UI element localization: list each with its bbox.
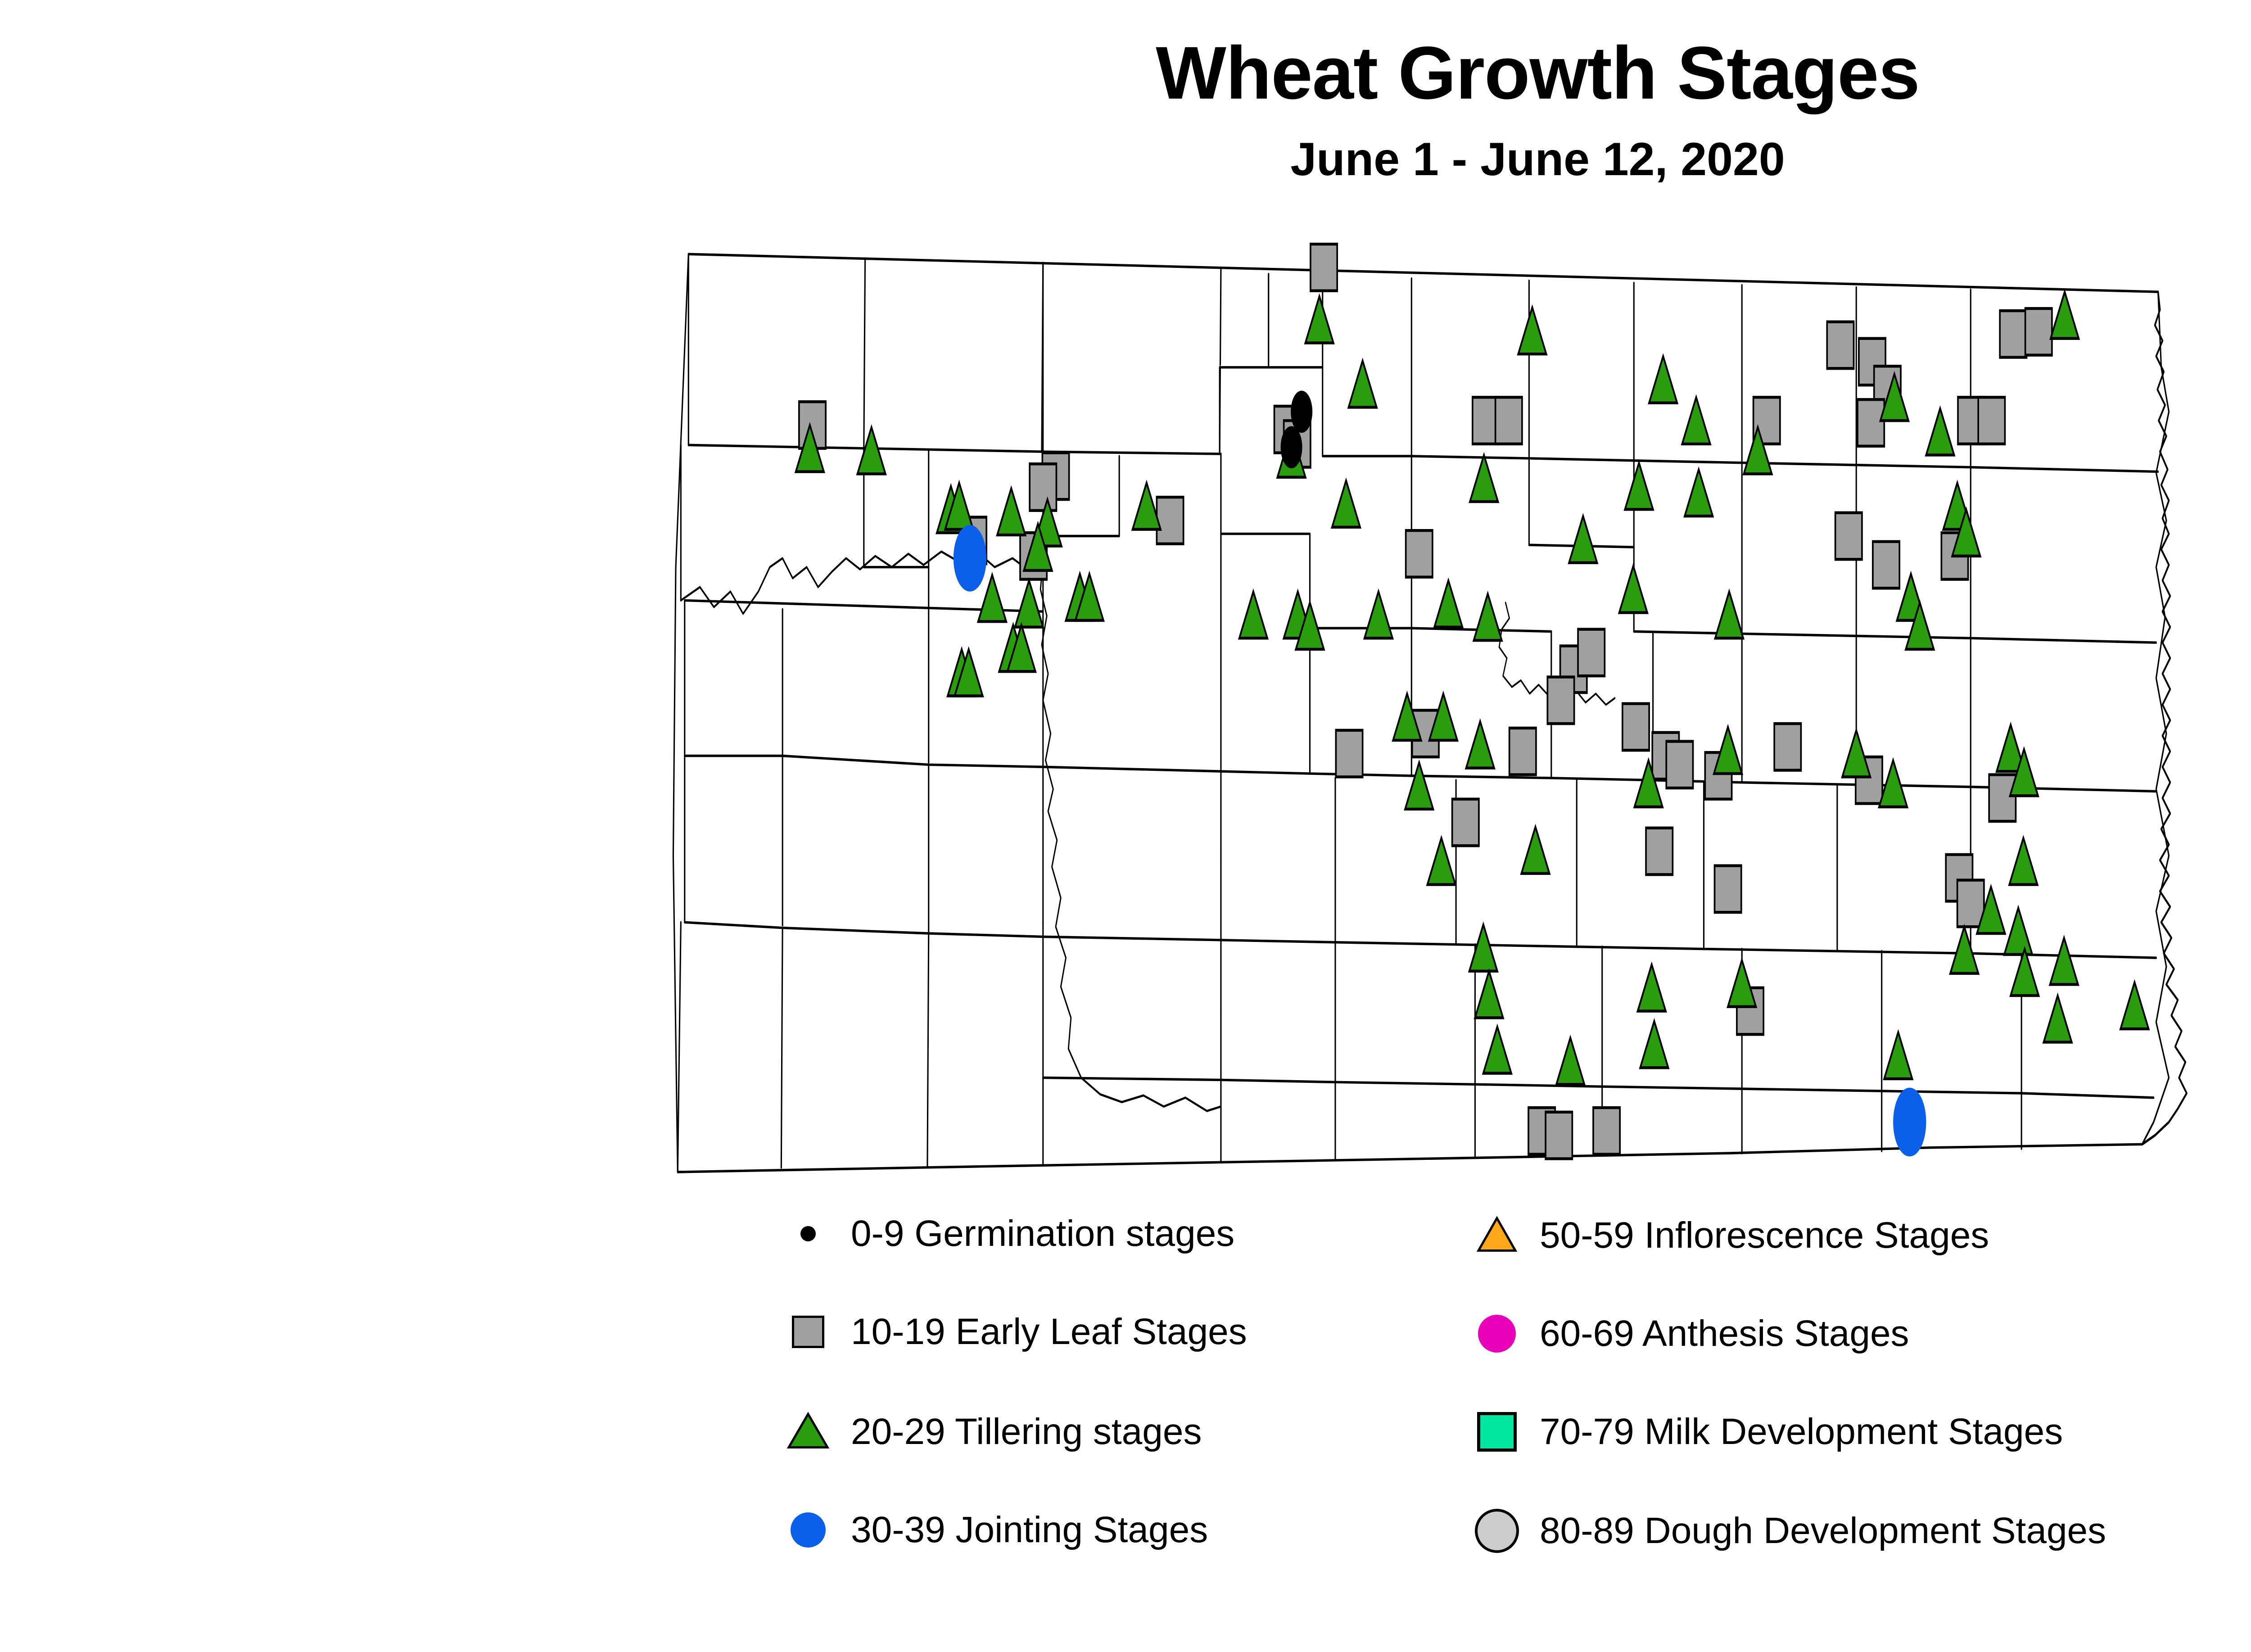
legend-item-anthesis[interactable]: 60-69 Anthesis Stages [1454, 1302, 1909, 1365]
legend: 0-9 Germination stages 10-19 Early Leaf … [765, 1202, 2251, 1598]
legend-label-milk-development: 70-79 Milk Development Stages [1540, 1413, 2063, 1450]
dough-development-circle-icon [1454, 1499, 1540, 1562]
legend-item-jointing[interactable]: 30-39 Jointing Stages [765, 1498, 1208, 1561]
legend-item-inflorescence[interactable]: 50-59 Inflorescence Stages [1454, 1204, 1989, 1267]
legend-item-germination[interactable]: 0-9 Germination stages [765, 1202, 1234, 1265]
legend-item-milk-development[interactable]: 70-79 Milk Development Stages [1454, 1400, 2063, 1463]
legend-label-jointing: 30-39 Jointing Stages [851, 1512, 1208, 1548]
legend-item-tillering[interactable]: 20-29 Tillering stages [765, 1400, 1202, 1463]
germination-dot-icon [765, 1202, 851, 1265]
legend-label-inflorescence: 50-59 Inflorescence Stages [1540, 1217, 1989, 1254]
wheat-growth-stages-map-figure: Wheat Growth Stages June 1 - June 12, 20… [0, 0, 2251, 1652]
title-block: Wheat Growth Stages June 1 - June 12, 20… [0, 36, 2251, 183]
triangle-green-glyph [786, 1412, 830, 1450]
legend-label-dough-development: 80-89 Dough Development Stages [1540, 1512, 2106, 1549]
legend-label-germination: 0-9 Germination stages [851, 1215, 1234, 1252]
triangle-orange-glyph [1476, 1216, 1518, 1253]
inflorescence-triangle-icon [1454, 1204, 1540, 1267]
anthesis-circle-icon [1454, 1302, 1540, 1365]
early-leaf-square-icon [765, 1300, 851, 1363]
north-dakota-county-map[interactable] [662, 234, 2237, 1189]
tillering-triangle-icon [765, 1400, 851, 1463]
legend-label-early-leaf: 10-19 Early Leaf Stages [851, 1313, 1247, 1350]
legend-label-anthesis: 60-69 Anthesis Stages [1540, 1315, 1909, 1352]
legend-label-tillering: 20-29 Tillering stages [851, 1413, 1202, 1450]
page-title: Wheat Growth Stages [0, 36, 2251, 111]
legend-item-early-leaf[interactable]: 10-19 Early Leaf Stages [765, 1300, 1247, 1363]
page-subtitle: June 1 - June 12, 2020 [0, 111, 2251, 183]
map-svg [662, 234, 2237, 1189]
jointing-circle-icon [765, 1498, 851, 1561]
legend-item-dough-development[interactable]: 80-89 Dough Development Stages [1454, 1499, 2106, 1562]
milk-development-square-icon [1454, 1400, 1540, 1463]
